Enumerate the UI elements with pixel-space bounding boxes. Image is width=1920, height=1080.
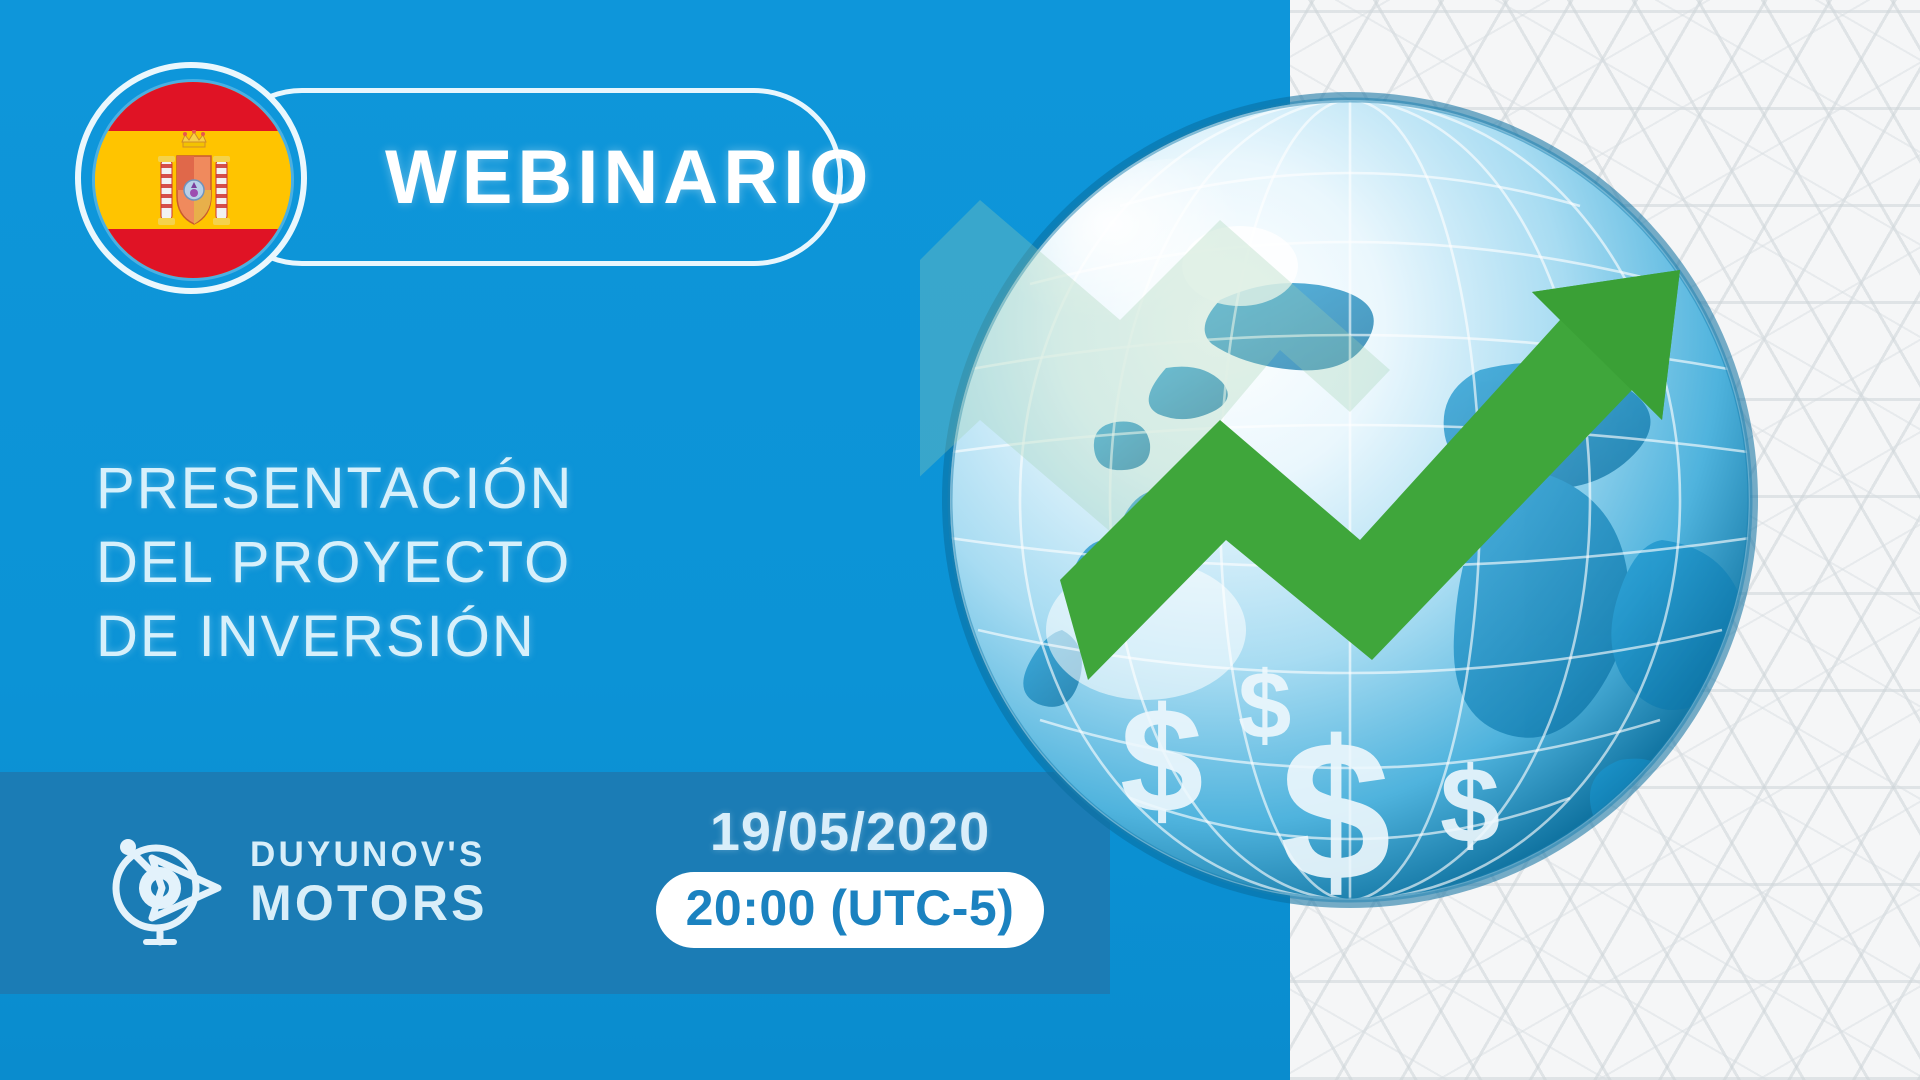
webinar-announcement-banner: WEBINARIO (0, 0, 1920, 1080)
headline-line-3: DE INVERSIÓN (96, 600, 796, 674)
headline-block: PRESENTACIÓN DEL PROYECTO DE INVERSIÓN (96, 452, 796, 674)
dollar-sign-4: $ (1440, 744, 1500, 865)
headline-line-2: DEL PROYECTO (96, 526, 796, 600)
dollar-sign-3: $ (1280, 700, 1391, 923)
duyunov-motors-logo-icon (100, 814, 232, 946)
brand-name: DUYUNOV'S MOTORS (250, 834, 550, 930)
headline-line-1: PRESENTACIÓN (96, 452, 796, 526)
globe-graphic: $ $ $ $ (920, 70, 1780, 950)
brand-logo: DUYUNOV'S MOTORS (100, 812, 520, 948)
webinar-badge-row: WEBINARIO (75, 62, 815, 294)
brand-name-line-2: MOTORS (250, 876, 550, 930)
flag-red-band-top (95, 82, 291, 131)
brand-name-line-1: DUYUNOV'S (250, 834, 550, 876)
growth-arrow-icon (920, 20, 1820, 720)
spain-flag-badge (75, 62, 307, 294)
spain-flag-icon (95, 82, 291, 278)
spain-coat-of-arms-icon (151, 130, 237, 238)
webinario-label: WEBINARIO (385, 122, 845, 234)
